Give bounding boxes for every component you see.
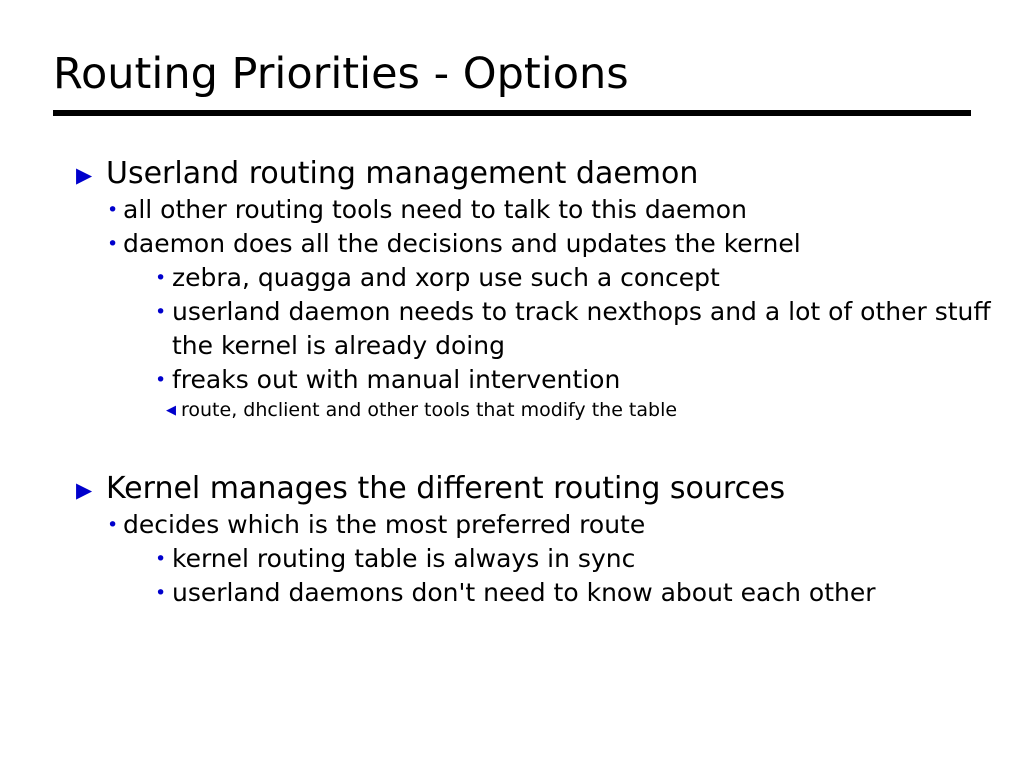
bullet-text: Kernel manages the different routing sou…: [106, 470, 1024, 508]
bullet-text: freaks out with manual intervention: [172, 363, 1024, 397]
bullet-level4: ◀ route, dhclient and other tools that m…: [166, 397, 1024, 424]
triangle-right-icon: ▶: [76, 470, 92, 510]
bullet-level3: • userland daemon needs to track nexthop…: [155, 295, 1024, 363]
dot-icon: •: [155, 295, 166, 329]
slide-canvas: Routing Priorities - Options ▶ Userland …: [0, 0, 1024, 768]
dot-icon: •: [107, 227, 118, 261]
title-underline-rule: [53, 110, 971, 116]
bullet-text: kernel routing table is always in sync: [172, 542, 1024, 576]
dot-icon: •: [155, 576, 166, 610]
dot-icon: •: [155, 363, 166, 397]
bullet-level1: ▶ Userland routing management daemon: [76, 155, 1024, 193]
bullet-level3: • zebra, quagga and xorp use such a conc…: [155, 261, 1024, 295]
dot-icon: •: [107, 193, 118, 227]
bullet-level3: • freaks out with manual intervention: [155, 363, 1024, 397]
dot-icon: •: [155, 542, 166, 576]
bullet-level1: ▶ Kernel manages the different routing s…: [76, 470, 1024, 508]
triangle-right-icon: ▶: [76, 155, 92, 195]
bullet-level3: • userland daemons don't need to know ab…: [155, 576, 1024, 610]
slide-body: ▶ Userland routing management daemon • a…: [0, 155, 1024, 610]
page-title: Routing Priorities - Options: [53, 48, 973, 100]
bullet-level2: • decides which is the most preferred ro…: [107, 508, 1024, 542]
dot-icon: •: [155, 261, 166, 295]
bullet-text: route, dhclient and other tools that mod…: [181, 397, 1024, 424]
bullet-text: all other routing tools need to talk to …: [123, 193, 1024, 227]
bullet-text: Userland routing management daemon: [106, 155, 1024, 193]
triangle-left-icon: ◀: [166, 397, 176, 425]
bullet-level2: • all other routing tools need to talk t…: [107, 193, 1024, 227]
bullet-level2: • daemon does all the decisions and upda…: [107, 227, 1024, 261]
section-spacer: [0, 424, 1024, 470]
slide-title-block: Routing Priorities - Options: [53, 48, 973, 100]
bullet-text: userland daemons don't need to know abou…: [172, 576, 1024, 610]
bullet-text: zebra, quagga and xorp use such a concep…: [172, 261, 1024, 295]
dot-icon: •: [107, 508, 118, 542]
bullet-level3: • kernel routing table is always in sync: [155, 542, 1024, 576]
bullet-text: daemon does all the decisions and update…: [123, 227, 1024, 261]
bullet-text: decides which is the most preferred rout…: [123, 508, 1024, 542]
bullet-text: userland daemon needs to track nexthops …: [172, 295, 1024, 363]
